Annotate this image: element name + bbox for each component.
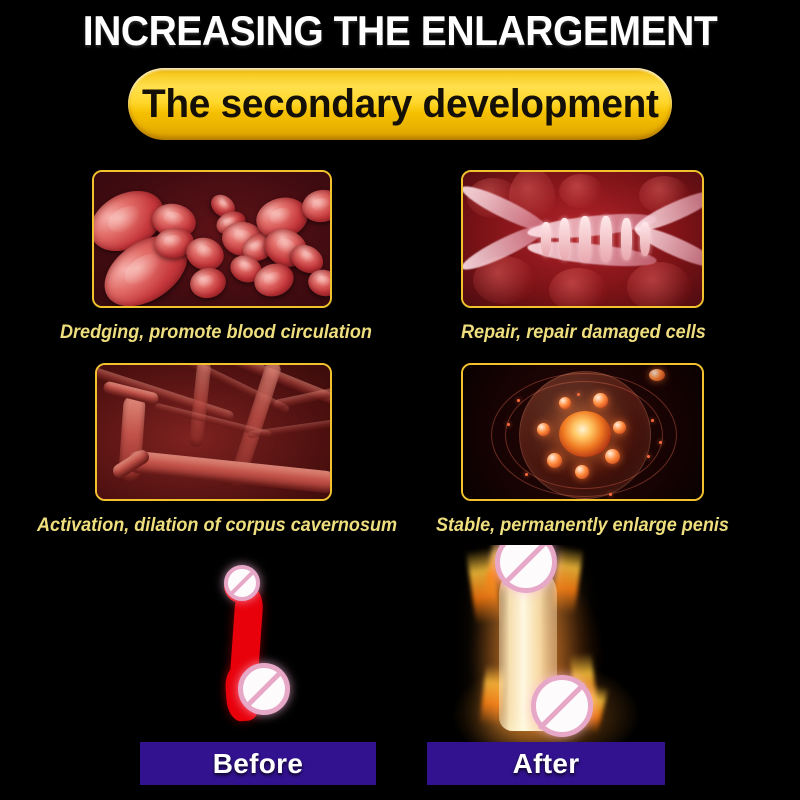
blood-vessel-network-photo (97, 365, 330, 499)
advertisement-banner: INCREASING THE ENLARGEMENT The secondary… (0, 0, 800, 800)
feature-thumbnail-3[interactable] (95, 363, 332, 501)
feature-card-4: Stable, permanently enlarge penis (461, 363, 704, 538)
feature-thumbnail-1[interactable] (92, 170, 332, 308)
feature-thumbnail-4[interactable] (461, 363, 704, 501)
feature-thumbnail-2[interactable] (461, 170, 704, 308)
feature-caption-4: Stable, permanently enlarge penis (436, 515, 729, 537)
prohibition-censor-icon (531, 675, 593, 737)
comparison-before: Before (140, 545, 376, 785)
prohibition-censor-icon (238, 663, 290, 715)
censored-red-subject-photo[interactable] (140, 545, 376, 742)
feature-caption-2: Repair, repair damaged cells (461, 322, 706, 344)
feature-caption-1: Dredging, promote blood circulation (60, 322, 372, 344)
dna-double-helix-photo (463, 172, 702, 306)
page-title: INCREASING THE ENLARGEMENT (28, 8, 772, 54)
comparison-after: After (427, 545, 665, 785)
before-label: Before (213, 748, 304, 780)
before-label-bar: Before (140, 742, 376, 785)
feature-card-1: Dredging, promote blood circulation (92, 170, 332, 345)
censored-flame-subject-photo[interactable] (427, 545, 665, 742)
feature-card-3: Activation, dilation of corpus cavernosu… (95, 363, 332, 538)
feature-caption-3: Activation, dilation of corpus cavernosu… (37, 515, 397, 537)
glowing-cell-atom-photo (463, 365, 702, 499)
subtitle-pill: The secondary development (128, 68, 672, 140)
red-blood-cells-photo (94, 172, 330, 306)
after-label: After (513, 748, 580, 780)
after-label-bar: After (427, 742, 665, 785)
prohibition-censor-icon (224, 565, 260, 601)
subtitle-pill-label: The secondary development (142, 82, 659, 127)
feature-card-2: Repair, repair damaged cells (461, 170, 704, 345)
